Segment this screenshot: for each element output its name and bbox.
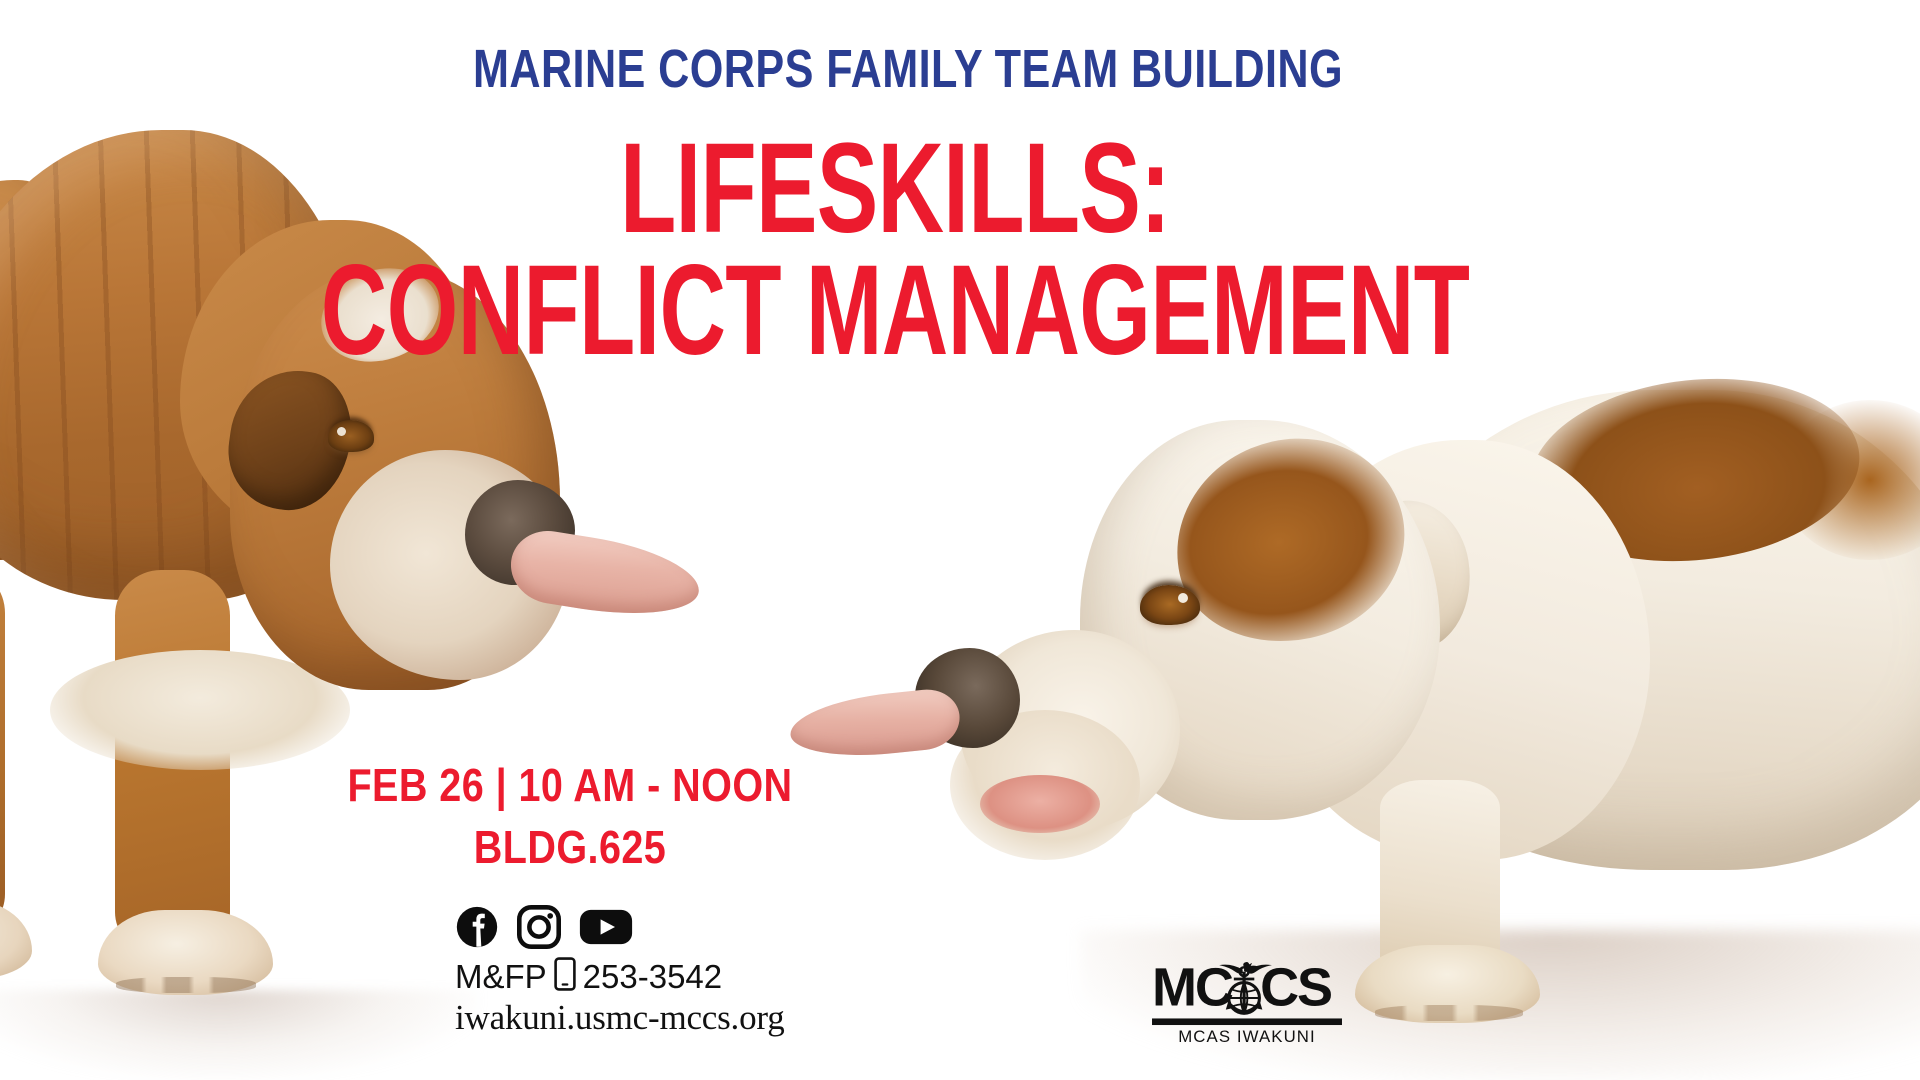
mccs-tagline: MCAS IWAKUNI [1178, 1027, 1316, 1046]
mccs-logo: MC CS [1152, 960, 1342, 1046]
content-layer: MARINE CORPS FAMILY TEAM BUILDING LIFESK… [0, 0, 1920, 1080]
headline-line-1: LIFESKILLS: [251, 130, 1540, 248]
headline-block: LIFESKILLS: CONFLICT MANAGEMENT [0, 130, 1920, 370]
event-date-time: FEB 26 | 10 AM - NOON [252, 760, 888, 812]
instagram-icon[interactable] [517, 905, 561, 949]
poster-canvas: MARINE CORPS FAMILY TEAM BUILDING LIFESK… [0, 0, 1920, 1080]
event-location: BLDG.625 [252, 822, 888, 874]
contact-org-label: M&FP [455, 960, 547, 995]
mccs-divider [1152, 1018, 1342, 1025]
contact-website[interactable]: iwakuni.usmc-mccs.org [455, 999, 785, 1038]
headline-line-2: CONFLICT MANAGEMENT [251, 252, 1540, 370]
social-links-row [455, 905, 785, 949]
event-details-block: FEB 26 | 10 AM - NOON BLDG.625 [200, 760, 940, 873]
contact-phone-line: M&FP 253-3542 [455, 957, 785, 998]
facebook-icon[interactable] [455, 905, 499, 949]
mobile-phone-icon [554, 957, 576, 998]
youtube-icon[interactable] [579, 905, 633, 949]
contact-block: M&FP 253-3542 iwakuni.usmc-mccs.org [455, 905, 785, 1037]
contact-phone-number[interactable]: 253-3542 [583, 960, 722, 995]
mccs-wordmark-right: CS [1260, 960, 1331, 1017]
program-kicker: MARINE CORPS FAMILY TEAM BUILDING [192, 42, 1728, 96]
mccs-wordmark-left: MC [1152, 960, 1233, 1017]
